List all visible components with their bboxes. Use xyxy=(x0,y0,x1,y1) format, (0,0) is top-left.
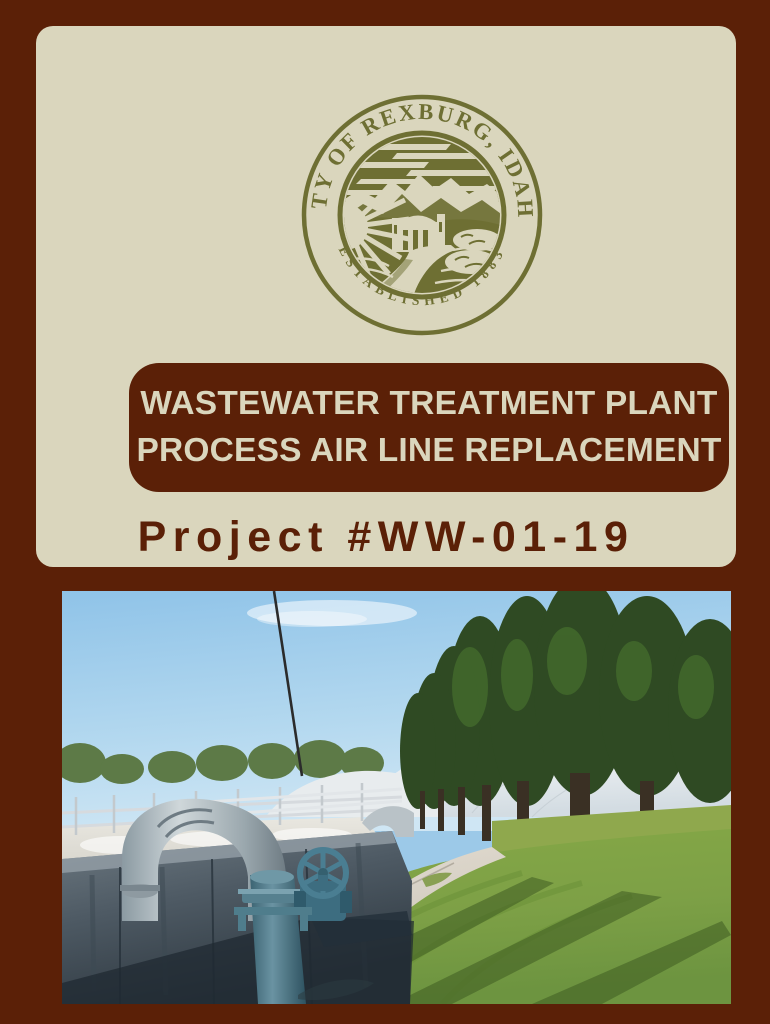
banner-line-1: WASTEWATER TREATMENT PLANT xyxy=(140,381,717,427)
title-banner: WASTEWATER TREATMENT PLANT PROCESS AIR L… xyxy=(129,363,729,492)
project-cover-poster: CITY OF REXBURG, IDAHO ESTABLISHED 1883 … xyxy=(0,0,770,1024)
plant-photo xyxy=(62,591,731,1004)
header-card: CITY OF REXBURG, IDAHO ESTABLISHED 1883 … xyxy=(36,26,736,567)
city-seal-icon: CITY OF REXBURG, IDAHO ESTABLISHED 1883 xyxy=(301,94,543,336)
project-number: Project #WW-01-19 xyxy=(36,513,736,562)
banner-line-2: PROCESS AIR LINE REPLACEMENT xyxy=(136,428,721,474)
